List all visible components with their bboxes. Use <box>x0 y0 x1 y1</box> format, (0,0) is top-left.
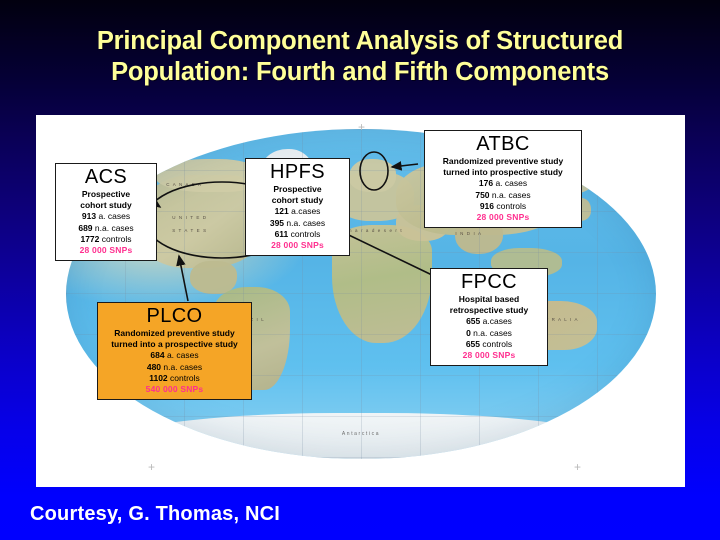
study-stat-row: 1772 controls <box>62 234 150 245</box>
study-snp-count: 28 000 SNPs <box>431 212 575 223</box>
study-description-line-1: Randomized preventive study <box>431 156 575 167</box>
map-label-united-states: U N I T E D <box>172 215 207 220</box>
stat-value: 684 <box>150 350 164 360</box>
stat-value: 0 <box>466 328 471 338</box>
study-stat-row: 655 a.cases <box>437 316 541 327</box>
stat-label: n.a. cases <box>473 328 512 338</box>
study-stat-row: 176 a. cases <box>431 178 575 189</box>
study-box-plco[interactable]: PLCO Randomized preventive study turned … <box>97 302 252 400</box>
study-stat-row: 655 controls <box>437 339 541 350</box>
study-stat-row: 121 a.cases <box>252 206 343 217</box>
crop-mark-top-icon: + <box>358 121 365 133</box>
study-acronym: PLCO <box>104 305 245 327</box>
stat-value: 689 <box>78 223 92 233</box>
study-stat-row: 916 controls <box>431 201 575 212</box>
crop-mark-bottom-right-icon: + <box>574 461 581 473</box>
map-label-india: I N D I A <box>455 231 482 236</box>
courtesy-caption: Courtesy, G. Thomas, NCI <box>30 503 280 526</box>
stat-value: 1772 <box>80 234 99 244</box>
stat-value: 121 <box>275 206 289 216</box>
stat-value: 655 <box>466 316 480 326</box>
study-stat-row: 684 a. cases <box>104 350 245 361</box>
study-acronym: FPCC <box>437 271 541 293</box>
stat-label: a.cases <box>483 316 512 326</box>
study-description-line-2: cohort study <box>62 200 150 211</box>
map-label-canada: C A N A D A <box>166 182 202 187</box>
study-description-line-1: Hospital based <box>437 294 541 305</box>
stat-value: 1102 <box>149 373 167 383</box>
stat-label: a. cases <box>167 350 199 360</box>
stat-label: a. cases <box>495 178 527 188</box>
study-description-line-2: retrospective study <box>437 305 541 316</box>
page-title: Principal Component Analysis of Structur… <box>0 26 720 88</box>
study-stat-row: 480 n.a. cases <box>104 362 245 373</box>
study-stat-row: 913 a. cases <box>62 211 150 222</box>
stat-label: controls <box>291 229 321 239</box>
stat-label: a.cases <box>291 206 320 216</box>
study-stat-row: 395 n.a. cases <box>252 218 343 229</box>
study-stat-row: 0 n.a. cases <box>437 328 541 339</box>
study-description-line-1: Prospective <box>62 189 150 200</box>
study-description-line-2: turned into prospective study <box>431 167 575 178</box>
study-description-line-2: cohort study <box>252 195 343 206</box>
study-stat-row: 1102 controls <box>104 373 245 384</box>
landmass-scandinavia <box>349 159 396 192</box>
stat-label: n.a. cases <box>286 218 325 228</box>
study-box-hpfs[interactable]: HPFS Prospective cohort study 121 a.case… <box>245 158 350 256</box>
stat-label: a. cases <box>98 211 130 221</box>
study-description-line-2: turned into a prospective study <box>104 339 245 350</box>
study-stat-row: 750 n.a. cases <box>431 190 575 201</box>
stat-label: controls <box>170 373 200 383</box>
study-snp-count: 540 000 SNPs <box>104 384 245 395</box>
title-line-2: Population: Fourth and Fifth Components <box>0 57 720 88</box>
study-acronym: HPFS <box>252 161 343 183</box>
map-label-states: S T A T E S <box>172 228 207 233</box>
title-line-1: Principal Component Analysis of Structur… <box>97 27 623 55</box>
stat-value: 655 <box>466 339 480 349</box>
study-description-line-1: Randomized preventive study <box>104 328 245 339</box>
stat-label: controls <box>482 339 512 349</box>
study-box-atbc[interactable]: ATBC Randomized preventive study turned … <box>424 130 582 228</box>
study-snp-count: 28 000 SNPs <box>437 350 541 361</box>
stat-value: 176 <box>479 178 493 188</box>
stat-value: 480 <box>147 362 161 372</box>
stat-label: controls <box>102 234 132 244</box>
stat-label: n.a. cases <box>163 362 202 372</box>
map-label-antarctica: Antarctica <box>66 431 656 437</box>
stat-value: 913 <box>82 211 96 221</box>
study-stat-row: 611 controls <box>252 229 343 240</box>
study-acronym: ATBC <box>431 133 575 155</box>
stat-value: 395 <box>270 218 284 228</box>
stat-label: n.a. cases <box>492 190 531 200</box>
stat-label: n.a. cases <box>95 223 134 233</box>
crop-mark-bottom-left-icon: + <box>148 461 155 473</box>
stat-label: controls <box>496 201 526 211</box>
stat-value: 750 <box>475 190 489 200</box>
study-snp-count: 28 000 SNPs <box>62 245 150 256</box>
stat-value: 916 <box>480 201 494 211</box>
study-box-fpcc[interactable]: FPCC Hospital based retrospective study … <box>430 268 548 366</box>
study-acronym: ACS <box>62 166 150 188</box>
study-description-line-1: Prospective <box>252 184 343 195</box>
study-box-acs[interactable]: ACS Prospective cohort study 913 a. case… <box>55 163 157 261</box>
stat-value: 611 <box>275 229 289 239</box>
study-snp-count: 28 000 SNPs <box>252 240 343 251</box>
study-stat-row: 689 n.a. cases <box>62 223 150 234</box>
